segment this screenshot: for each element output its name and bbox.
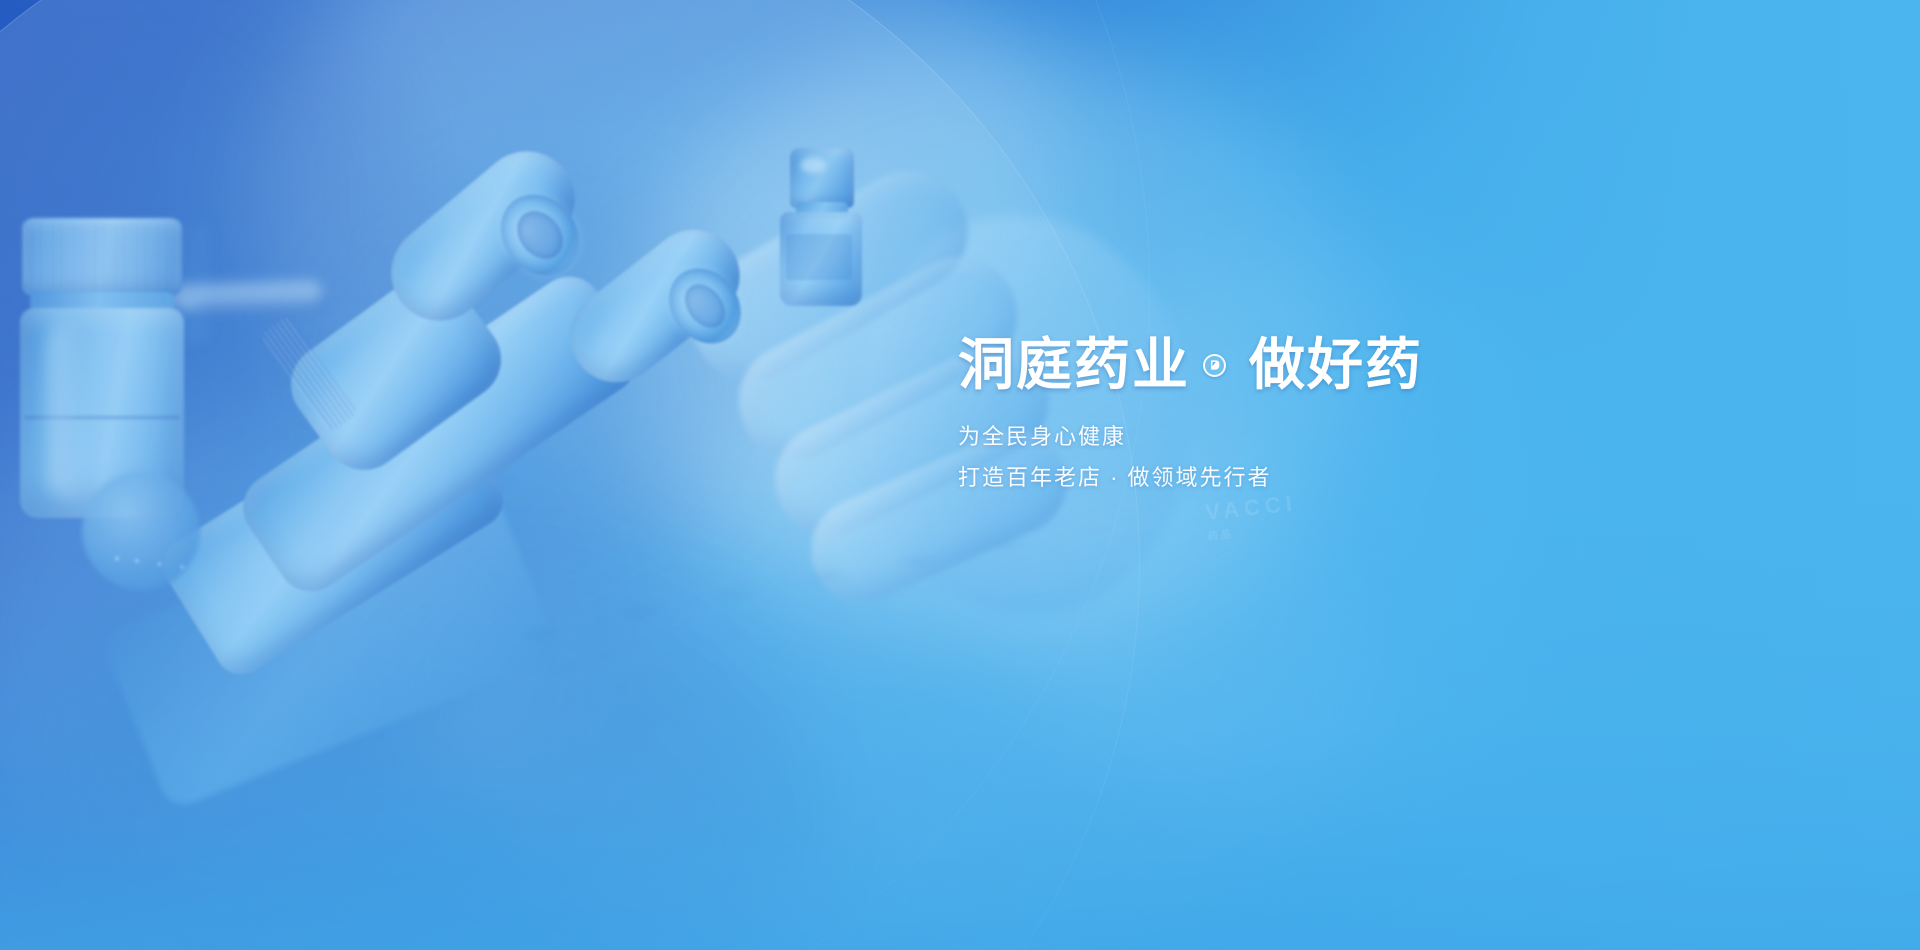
- vial-label: [786, 234, 852, 280]
- hero-headline-row: 洞庭药业 做好药: [958, 334, 1658, 397]
- dongting-circle-d-logo-icon: [1203, 354, 1226, 377]
- medicine-vial-photo: [752, 148, 876, 308]
- hero-subtitle-line-2: 打造百年老店 · 做领域先行者: [958, 458, 1658, 497]
- hero-copy-block: 洞庭药业 做好药 为全民身心健康 打造百年老店 · 做领域先行者: [958, 334, 1658, 497]
- hero-banner: VACCI 药品 洞庭药业 做好药 为全民身心健康 打造百年老店 · 做领域先行…: [0, 0, 1920, 950]
- hero-headline-primary: 洞庭药业: [958, 334, 1190, 397]
- vial-cap: [790, 148, 854, 208]
- hero-headline-secondary: 做好药: [1249, 334, 1423, 397]
- hero-subtitle-line-1: 为全民身心健康: [958, 417, 1658, 456]
